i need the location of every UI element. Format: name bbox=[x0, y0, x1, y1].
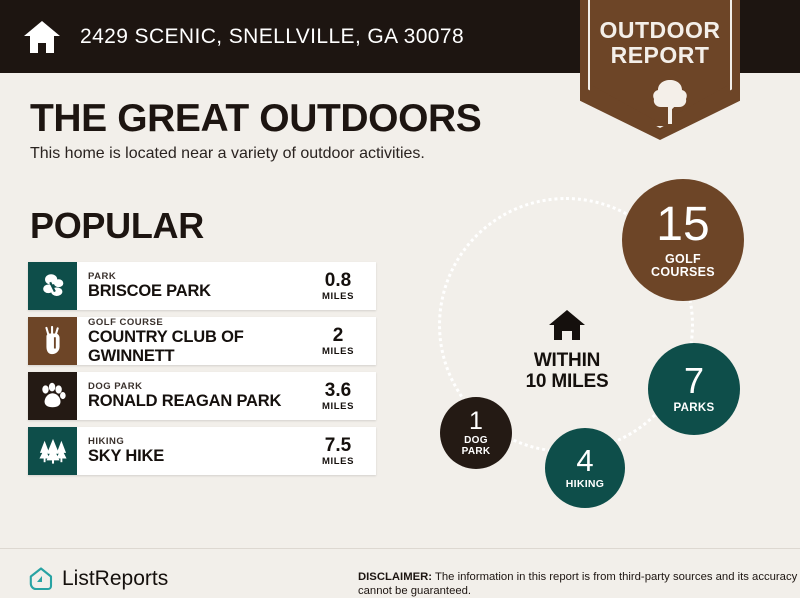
bubble-label-line-2: PARK bbox=[462, 447, 491, 458]
item-category: HIKING bbox=[88, 436, 306, 447]
popular-heading: POPULAR bbox=[30, 205, 204, 247]
distance-unit: MILES bbox=[322, 346, 354, 357]
list-item[interactable]: PARK BRISCOE PARK 0.8 MILES bbox=[28, 262, 376, 310]
bubble-count: 7 bbox=[684, 363, 704, 399]
center-label-line-2: 10 MILES bbox=[492, 371, 642, 392]
center-label: WITHIN 10 MILES bbox=[492, 350, 642, 392]
item-category: GOLF COURSE bbox=[88, 317, 306, 328]
home-icon bbox=[547, 308, 587, 342]
item-category: DOG PARK bbox=[88, 381, 306, 392]
bubble-parks[interactable]: 7 PARKS bbox=[648, 343, 740, 435]
disclaimer-label: DISCLAIMER: bbox=[358, 571, 432, 583]
bubble-count: 4 bbox=[576, 445, 593, 476]
bubble-golf-courses[interactable]: 15 GOLF COURSES bbox=[622, 179, 744, 301]
distance-unit: MILES bbox=[322, 401, 354, 412]
bubble-label-line-1: HIKING bbox=[566, 479, 605, 490]
park-tree-icon bbox=[38, 271, 68, 301]
bubble-hiking[interactable]: 4 HIKING bbox=[545, 428, 625, 508]
home-icon bbox=[22, 17, 62, 57]
page-subtitle: This home is located near a variety of o… bbox=[30, 145, 425, 163]
item-name: BRISCOE PARK bbox=[88, 282, 306, 301]
bubble-label-line-1: PARKS bbox=[674, 402, 715, 414]
bubble-count: 15 bbox=[656, 201, 709, 249]
diagram-center: WITHIN 10 MILES bbox=[492, 308, 642, 392]
property-address: 2429 SCENIC, SNELLVILLE, GA 30078 bbox=[80, 25, 464, 49]
item-text: GOLF COURSE COUNTRY CLUB OF GWINNETT bbox=[77, 317, 306, 365]
footer-divider bbox=[0, 548, 800, 549]
list-item[interactable]: GOLF COURSE COUNTRY CLUB OF GWINNETT 2 M… bbox=[28, 317, 376, 365]
distance-unit: MILES bbox=[322, 456, 354, 467]
badge-line-1: OUTDOOR bbox=[580, 18, 740, 43]
listreports-house-icon bbox=[28, 566, 54, 592]
golf-swing-icon bbox=[39, 326, 67, 356]
item-category: PARK bbox=[88, 271, 306, 282]
distance-value: 2 bbox=[333, 326, 344, 346]
badge-line-2: REPORT bbox=[580, 43, 740, 68]
item-distance: 0.8 MILES bbox=[306, 262, 376, 310]
item-icon-box bbox=[28, 372, 77, 420]
list-item[interactable]: DOG PARK RONALD REAGAN PARK 3.6 MILES bbox=[28, 372, 376, 420]
tree-icon bbox=[650, 78, 690, 126]
bubble-label-line-2: COURSES bbox=[651, 266, 715, 279]
item-name: SKY HIKE bbox=[88, 447, 306, 466]
center-label-line-1: WITHIN bbox=[492, 350, 642, 371]
brand-logo[interactable]: ListReports bbox=[28, 566, 168, 592]
item-name: COUNTRY CLUB OF GWINNETT bbox=[88, 328, 306, 366]
badge-label: OUTDOOR REPORT bbox=[580, 18, 740, 68]
item-icon-box bbox=[28, 427, 77, 475]
disclaimer: DISCLAIMER: The information in this repo… bbox=[358, 570, 798, 598]
item-icon-box bbox=[28, 317, 77, 365]
item-text: PARK BRISCOE PARK bbox=[77, 262, 306, 310]
item-distance: 7.5 MILES bbox=[306, 427, 376, 475]
bubble-dog-park[interactable]: 1 DOG PARK bbox=[440, 397, 512, 469]
item-text: HIKING SKY HIKE bbox=[77, 427, 306, 475]
distance-value: 7.5 bbox=[325, 436, 351, 456]
item-icon-box bbox=[28, 262, 77, 310]
popular-list: PARK BRISCOE PARK 0.8 MILES GOLF COURSE … bbox=[28, 262, 376, 482]
page-title: THE GREAT OUTDOORS bbox=[30, 97, 481, 141]
pine-trees-icon bbox=[37, 437, 69, 465]
within-10-miles-diagram: 15 GOLF COURSES 7 PARKS 4 HIKING 1 DOG P… bbox=[400, 175, 800, 535]
brand-name: ListReports bbox=[62, 567, 168, 591]
item-text: DOG PARK RONALD REAGAN PARK bbox=[77, 372, 306, 420]
bubble-count: 1 bbox=[469, 409, 483, 434]
distance-value: 0.8 bbox=[325, 271, 351, 291]
item-name: RONALD REAGAN PARK bbox=[88, 392, 306, 411]
distance-value: 3.6 bbox=[325, 381, 351, 401]
distance-unit: MILES bbox=[322, 291, 354, 302]
item-distance: 3.6 MILES bbox=[306, 372, 376, 420]
list-item[interactable]: HIKING SKY HIKE 7.5 MILES bbox=[28, 427, 376, 475]
paw-print-icon bbox=[38, 381, 68, 411]
item-distance: 2 MILES bbox=[306, 317, 376, 365]
bubble-label-line-1: DOG bbox=[464, 436, 488, 447]
